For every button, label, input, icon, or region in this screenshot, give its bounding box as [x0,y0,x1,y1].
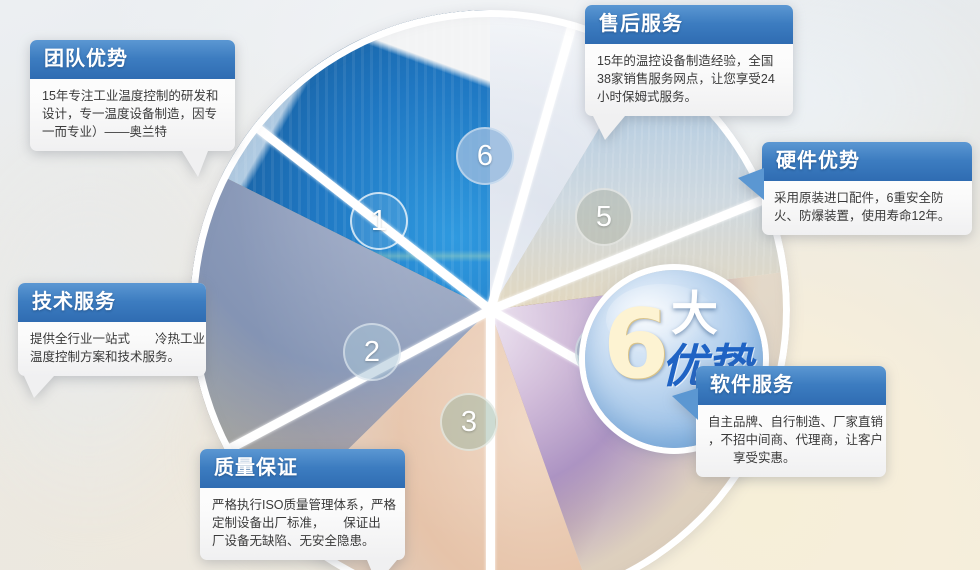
center-number: 6 [603,298,669,393]
callout-after-sales-line-3: 小时保姆式服务。 [597,88,781,106]
callout-team-title: 团队优势 [30,40,235,79]
segment-badge-3[interactable]: 3 [440,393,498,451]
callout-after-sales-title: 售后服务 [585,5,793,44]
callout-team-pointer [182,151,208,177]
callout-hardware[interactable]: 硬件优势 采用原装进口配件，6重安全防 火、防爆装置，使用寿命12年。 [762,142,972,235]
callout-hardware-body: 采用原装进口配件，6重安全防 火、防爆装置，使用寿命12年。 [762,181,972,235]
callout-team-line-3: 一而专业）——奥兰特 [42,123,223,141]
segment-badge-2[interactable]: 2 [343,323,401,381]
callout-team-line-1: 15年专注工业温度控制的研发和 [42,87,223,105]
callout-software-line-2: ，不招中间商、代理商，让客户 [708,431,874,449]
segment-badge-5[interactable]: 5 [575,188,633,246]
callout-quality-line-1: 严格执行ISO质量管理体系，严格 [212,496,393,514]
callout-quality-line-2: 定制设备出厂标准， 保证出 [212,514,393,532]
callout-team-line-2: 设计，专一温度设备制造，因专 [42,105,223,123]
callout-quality-body: 严格执行ISO质量管理体系，严格 定制设备出厂标准， 保证出 厂设备无缺陷、无安… [200,488,405,560]
callout-after-sales[interactable]: 售后服务 15年的温控设备制造经验，全国 38家销售服务网点，让您享受24 小时… [585,5,793,116]
callout-team-body: 15年专注工业温度控制的研发和 设计，专一温度设备制造，因专 一而专业）——奥兰… [30,79,235,151]
callout-tech-line-2: 温度控制方案和技术服务。 [30,348,194,366]
callout-quality-pointer [367,560,397,570]
callout-after-sales-line-1: 15年的温控设备制造经验，全国 [597,52,781,70]
segment-badge-6[interactable]: 6 [456,127,514,185]
callout-tech-pointer [24,376,54,398]
segment-badge-6-label: 6 [477,142,493,171]
callout-software-line-1: 自主品牌、自行制造、厂家直销 [708,413,874,431]
segment-badge-1[interactable]: 1 [350,192,408,250]
center-big-word: 大 [671,290,718,337]
callout-hardware-pointer [738,168,764,200]
callout-tech-line-1: 提供全行业一站式 冷热工业 [30,330,194,348]
callout-after-sales-pointer [593,116,625,140]
callout-software-line-3: 享受实惠。 [708,449,874,467]
segment-badge-5-label: 5 [596,203,612,232]
callout-tech-title: 技术服务 [18,283,206,322]
callout-software[interactable]: 软件服务 自主品牌、自行制造、厂家直销 ，不招中间商、代理商，让客户 享受实惠。 [696,366,886,477]
callout-tech-body: 提供全行业一站式 冷热工业 温度控制方案和技术服务。 [18,322,206,376]
callout-quality[interactable]: 质量保证 严格执行ISO质量管理体系，严格 定制设备出厂标准， 保证出 厂设备无… [200,449,405,560]
callout-hardware-line-1: 采用原装进口配件，6重安全防 [774,189,960,207]
callout-quality-title: 质量保证 [200,449,405,488]
segment-badge-2-label: 2 [364,338,380,367]
callout-quality-line-3: 厂设备无缺陷、无安全隐患。 [212,532,393,550]
callout-after-sales-line-2: 38家销售服务网点，让您享受24 [597,70,781,88]
infographic-canvas: 1 2 3 4 5 6 6 大 优势 团队优势 15年专注工业温度控制的研 [0,0,980,570]
callout-tech[interactable]: 技术服务 提供全行业一站式 冷热工业 温度控制方案和技术服务。 [18,283,206,376]
callout-team[interactable]: 团队优势 15年专注工业温度控制的研发和 设计，专一温度设备制造，因专 一而专业… [30,40,235,151]
callout-hardware-line-2: 火、防爆装置，使用寿命12年。 [774,207,960,225]
callout-software-body: 自主品牌、自行制造、厂家直销 ，不招中间商、代理商，让客户 享受实惠。 [696,405,886,477]
callout-software-title: 软件服务 [696,366,886,405]
callout-hardware-title: 硬件优势 [762,142,972,181]
callout-software-pointer [672,388,698,420]
callout-after-sales-body: 15年的温控设备制造经验，全国 38家销售服务网点，让您享受24 小时保姆式服务… [585,44,793,116]
segment-badge-1-label: 1 [371,207,387,236]
segment-badge-3-label: 3 [461,408,477,437]
